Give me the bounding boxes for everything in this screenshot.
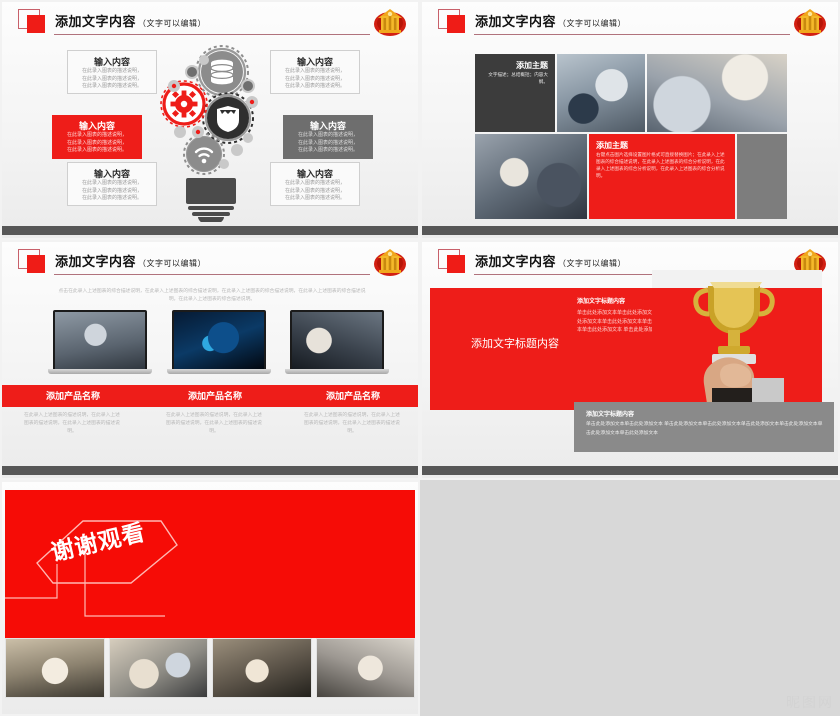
strip-photo-2[interactable] [109,638,209,698]
slide-3-header: 添加文字内容（文字可以编辑） [2,242,418,286]
mosaic-gray-placeholder[interactable] [737,134,787,219]
header-square-red-icon [447,255,465,273]
page-subtitle: （文字可以编辑） [138,19,206,28]
page-subtitle: （文字可以编辑） [138,259,206,268]
callout-line: 在此录入图表的描述说明。 [278,83,352,91]
callout-box-2[interactable]: 输入内容 在此录入图表的描述说明， 在此录入图表的描述说明， 在此录入图表的描述… [270,50,360,94]
callout-line: 在此录入图表的描述说明， [75,188,149,196]
page-title: 添加文字内容（文字可以编辑） [55,251,206,270]
callout-line: 在此录入图表的描述说明， [59,140,135,148]
page-title: 添加文字内容（文字可以编辑） [475,11,626,30]
product-name-2: 添加产品名称 [150,385,280,407]
callout-line: 在此录入图表的描述说明， [75,68,149,76]
header-square-red-icon [447,15,465,33]
callout-line: 在此录入图表的描述说明。 [75,195,149,203]
callout-title: 输入内容 [59,120,135,132]
strip-photo-1[interactable] [5,638,105,698]
callout-box-5[interactable]: 输入内容 在此录入图表的描述说明， 在此录入图表的描述说明， 在此录入图表的描述… [67,162,157,206]
mosaic-dark-text-panel[interactable]: 添加主题 文字描述；总结概括；内容大纲。 [475,54,555,132]
china-tax-emblem-icon [372,246,408,278]
product-name-bar: 添加产品名称 添加产品名称 添加产品名称 [2,385,418,407]
slide-footer-bar [422,226,838,235]
callout-line: 在此录入图表的描述说明。 [59,147,135,155]
slide-2[interactable]: 添加文字内容（文字可以编辑） 添加主题 [420,0,840,240]
callout-title: 输入内容 [290,120,366,132]
strip-photo-3[interactable] [212,638,312,698]
page-subtitle: （文字可以编辑） [558,259,626,268]
china-tax-emblem-icon [792,6,828,38]
callout-line: 在此录入图表的描述说明， [290,132,366,140]
panel-title: 添加主题 [482,60,548,71]
header-square-red-icon [27,255,45,273]
mosaic-red-text-panel[interactable]: 添加主题 右键点击图片选择设置图片格式可直接替换图片；在此录入上述图表的综合描述… [589,134,735,219]
header-square-red-icon [27,15,45,33]
header-divider [54,274,370,275]
slide-4-gray-panel[interactable]: 添加文字标题内容 单击此处添加文本单击此处添加文本 单击此处添加文本单击此处添加… [574,402,834,452]
trophy-photo[interactable] [652,270,822,410]
callout-title: 输入内容 [75,56,149,68]
callout-line: 在此录入图表的描述说明。 [278,195,352,203]
watermark: 昵图网 [786,692,834,712]
product-desc-1: 在此录入上述图表的描述说明，在此录入上述图表的描述说明，在此录入上述图表的描述说… [22,412,122,436]
callout-line: 在此录入图表的描述说明， [278,76,352,84]
slide-4[interactable]: 添加文字内容（文字可以编辑） 添加文字标题内容 添加文字标题内容 [420,240,840,480]
thanks-red-banner: 谢谢观看 [5,490,415,638]
page-title: 添加文字内容（文字可以编辑） [475,251,626,270]
callout-line: 在此录入图表的描述说明， [75,180,149,188]
slide-footer-bar [2,466,418,475]
gray-panel-body: 单击此处添加文本单击此处添加文本 单击此处添加文本单击此处添加文本单击此处添加文… [586,421,824,438]
callout-line: 在此录入图表的描述说明， [278,68,352,76]
slide-2-header: 添加文字内容（文字可以编辑） [422,2,838,46]
laptop-3[interactable] [285,310,389,374]
header-divider [474,34,790,35]
strip-photo-4[interactable] [316,638,416,698]
panel-title: 添加主题 [596,140,728,151]
callout-title: 输入内容 [75,168,149,180]
gear-icon [171,91,198,118]
callout-box-3[interactable]: 输入内容 在此录入图表的描述说明， 在此录入图表的描述说明， 在此录入图表的描述… [52,115,142,159]
callout-box-6[interactable]: 输入内容 在此录入图表的描述说明， 在此录入图表的描述说明， 在此录入图表的描述… [270,162,360,206]
laptop-2[interactable] [167,310,271,374]
bottom-photo-strip [5,638,415,698]
callout-title: 输入内容 [278,168,352,180]
slide-1-header: 添加文字内容（文字可以编辑） [2,2,418,46]
slide-1[interactable]: 添加文字内容（文字可以编辑） [0,0,420,240]
callout-line: 在此录入图表的描述说明， [59,132,135,140]
slide-deck: 添加文字内容（文字可以编辑） [0,0,840,716]
header-divider [54,34,370,35]
callout-line: 在此录入图表的描述说明。 [290,147,366,155]
page-title: 添加文字内容（文字可以编辑） [55,11,206,30]
product-name-1: 添加产品名称 [8,385,138,407]
mosaic-photo-2[interactable] [647,54,787,132]
slide-3[interactable]: 添加文字内容（文字可以编辑） 点击在此录入上述图表的综合描述说明，在此录入上述图… [0,240,420,480]
gear-lightbulb-infographic [152,42,272,222]
callout-box-1[interactable]: 输入内容 在此录入图表的描述说明， 在此录入图表的描述说明， 在此录入图表的描述… [67,50,157,94]
empty-area: 昵图网 [420,480,840,716]
photo-mosaic: 添加主题 文字描述；总结概括；内容大纲。 添加主题 右键点击图片选择设置图片格式… [475,54,787,219]
slide-footer-bar [2,226,418,235]
china-tax-emblem-icon [372,6,408,38]
panel-body: 文字描述；总结概括；内容大纲。 [482,71,548,85]
page-subtitle: （文字可以编辑） [558,19,626,28]
slide-5[interactable]: 谢谢观看 [0,480,420,716]
slide-4-big-title: 添加文字标题内容 [440,335,590,351]
product-desc-3: 在此录入上述图表的描述说明，在此录入上述图表的描述说明，在此录入上述图表的描述说… [302,412,402,436]
callout-box-4[interactable]: 输入内容 在此录入图表的描述说明， 在此录入图表的描述说明， 在此录入图表的描述… [283,115,373,159]
laptop-1[interactable] [48,310,152,374]
callout-line: 在此录入图表的描述说明。 [75,83,149,91]
product-name-3: 添加产品名称 [288,385,418,407]
callout-line: 在此录入图表的描述说明， [75,76,149,84]
callout-title: 输入内容 [278,56,352,68]
product-desc-2: 在此录入上述图表的描述说明，在此录入上述图表的描述说明，在此录入上述图表的描述说… [164,412,264,436]
callout-line: 在此录入图表的描述说明， [278,180,352,188]
panel-body: 右键点击图片选择设置图片格式可直接替换图片；在此录入上述图表的综合描述说明，在此… [596,151,728,179]
mosaic-photo-1[interactable] [557,54,645,132]
callout-line: 在此录入图表的描述说明， [290,140,366,148]
callout-line: 在此录入图表的描述说明， [278,188,352,196]
slide-footer-bar [422,466,838,475]
mosaic-photo-3[interactable] [475,134,587,219]
gray-panel-title: 添加文字标题内容 [586,409,634,418]
slide-3-lead-text: 点击在此录入上述图表的综合描述说明，在此录入上述图表的综合描述说明，在此录入上述… [54,288,370,304]
